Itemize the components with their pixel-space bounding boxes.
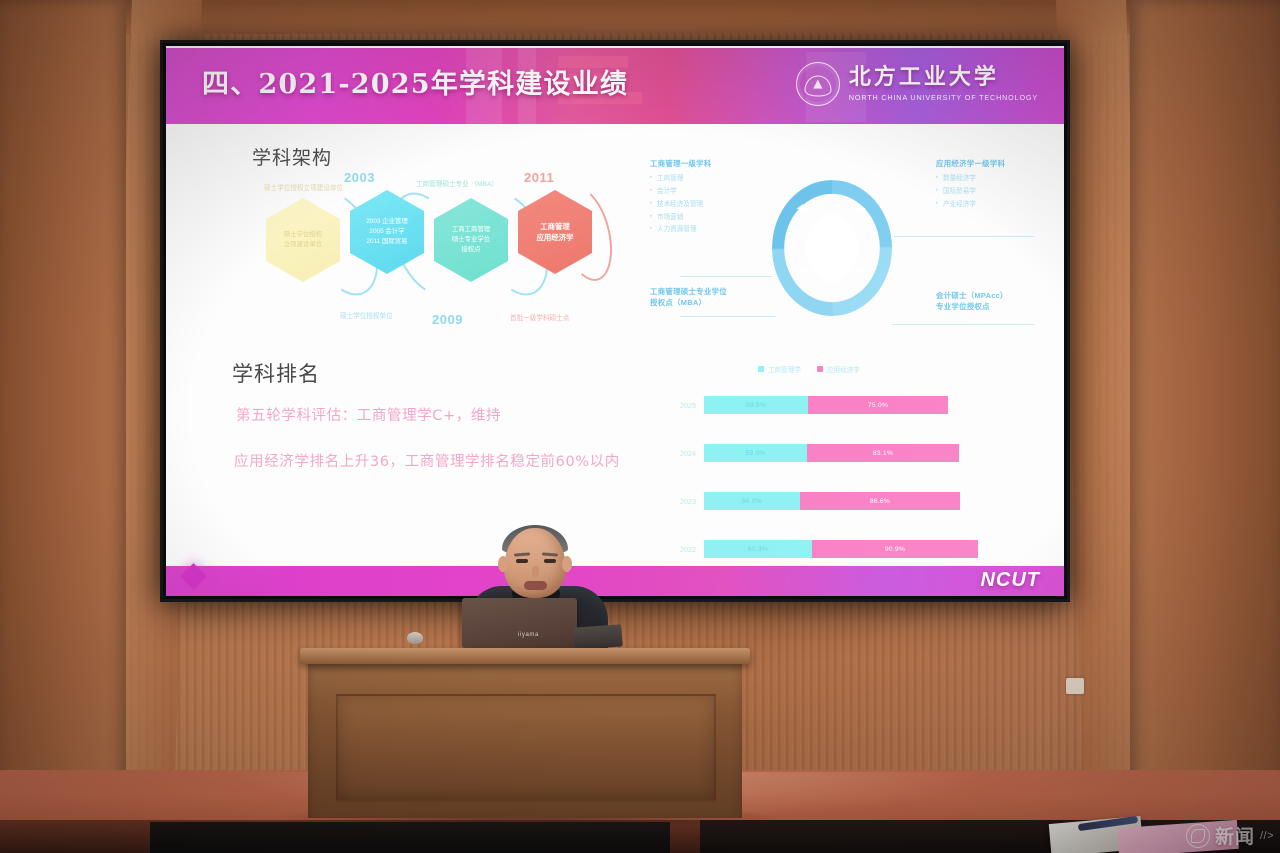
discipline-left-item-1: 工商管理 <box>650 173 712 186</box>
timeline-caption-fourth: 首批一级学科硕士点 <box>510 312 569 322</box>
timeline-caption-first: 硕士学位授权立项建设单位 <box>264 182 343 192</box>
bar-segment-b: 90.9% <box>812 540 978 558</box>
legend-label-1: 应用经济学 <box>827 364 860 374</box>
news-watermark: 新闻 //> <box>1186 822 1274 849</box>
discipline-group-bottom-right: 会计硕士（MPAcc） 专业学位授权点 <box>936 290 1008 316</box>
bar-segment-a: 60.3% <box>704 540 812 558</box>
presenter-eye-left <box>516 559 528 563</box>
podium-desktop <box>300 648 750 664</box>
discipline-left-item-5: 人力资源管理 <box>650 224 712 237</box>
bar-track: 59.0% 83.1% <box>704 444 959 462</box>
connector-right <box>894 236 1034 237</box>
discipline-group-bottom-left: 工商管理硕士专业学位 授权点（MBA） <box>650 286 727 312</box>
bar-track: 56.0% 86.6% <box>704 492 960 510</box>
bar-segment-b: 83.1% <box>807 444 959 462</box>
donut-center-hole <box>806 214 858 282</box>
discipline-group-right: 应用经济学一级学科 数量经济学 国际贸易学 产业经济学 <box>936 158 1005 212</box>
watermark-seal-icon <box>1186 824 1210 848</box>
bar-segment-b: 75.0% <box>808 396 948 414</box>
wall-right-panel <box>1130 0 1280 800</box>
graduation-cap-icon-1 <box>796 204 810 214</box>
legend-swatch-1 <box>817 366 823 372</box>
discipline-donut-diagram: 工商管理一级学科 工商管理 会计学 技术经济及管理 市场营销 人力资源管理 应用… <box>644 158 1044 348</box>
bar-segment-a: 56.0% <box>704 492 800 510</box>
timeline-caption-second: 硕士学位授权单位 <box>340 310 393 320</box>
discipline-right-title: 应用经济学一级学科 <box>936 158 1005 169</box>
footer-brand: NCUT <box>980 569 1040 592</box>
bar-track: 59.5% 75.0% <box>704 396 948 414</box>
slide-title: 四、2021-2025年学科建设业绩 <box>202 62 628 101</box>
legend-swatch-0 <box>758 366 764 372</box>
connector-bottom-left <box>680 316 776 317</box>
legend-label-0: 工商管理学 <box>768 364 801 374</box>
podium <box>300 648 750 818</box>
timeline-caption-third: 工商管理硕士专业 （MBA） <box>416 178 498 188</box>
presenter-eye-right <box>544 559 556 563</box>
timeline-year-2009: 2009 <box>432 312 463 327</box>
presentation-slide: 四、2021-2025年学科建设业绩 北方工业大学 NORTH CHINA UN… <box>166 46 1064 596</box>
discipline-left-item-2: 会计学 <box>650 186 712 199</box>
timeline-node-2-label: 2003 企业管理 2005 会计学 2011 国际贸易 <box>366 217 408 247</box>
connector-left <box>680 276 772 277</box>
legend-item-1: 应用经济学 <box>817 364 860 374</box>
presenter-nose <box>532 566 539 577</box>
watermark-text: 新闻 <box>1215 822 1255 849</box>
mouse[interactable] <box>407 632 423 644</box>
university-seal-icon <box>796 62 840 106</box>
legend-item-0: 工商管理学 <box>758 364 801 374</box>
logo-text-group: 北方工业大学 NORTH CHINA UNIVERSITY OF TECHNOL… <box>849 66 1038 101</box>
discipline-right-item-2: 国际贸易学 <box>936 186 1005 199</box>
laptop-lid: iiyama <box>462 598 577 648</box>
watermark-subtext: //> <box>1260 830 1274 842</box>
discipline-bottom-left-title: 工商管理硕士专业学位 授权点（MBA） <box>650 286 727 308</box>
ranking-bar-chart: 工商管理学 应用经济学 2025 59.5% 75.0% 2024 <box>666 364 1064 572</box>
connector-bottom-right <box>892 324 1034 325</box>
bar-row: 2023 56.0% 86.6% <box>666 490 1064 512</box>
presenter-mouth <box>524 581 547 590</box>
logo-name-en: NORTH CHINA UNIVERSITY OF TECHNOLOGY <box>849 93 1038 102</box>
discipline-left-item-4: 市场营销 <box>650 212 712 225</box>
podium-panel <box>336 694 716 802</box>
discipline-timeline: 硕士学位授权 立项建设单位 2003 企业管理 2005 会计学 2011 国际… <box>266 176 616 341</box>
laptop-brand-label: iiyama <box>518 632 539 638</box>
discipline-group-left: 工商管理一级学科 工商管理 会计学 技术经济及管理 市场营销 人力资源管理 <box>650 158 712 237</box>
bar-segment-a: 59.5% <box>704 396 808 414</box>
discipline-right-item-1: 数量经济学 <box>936 173 1005 186</box>
slide-header: 四、2021-2025年学科建设业绩 北方工业大学 NORTH CHINA UN… <box>166 48 1064 124</box>
discipline-bottom-right-title: 会计硕士（MPAcc） 专业学位授权点 <box>936 290 1008 312</box>
bar-row: 2024 59.0% 83.1% <box>666 442 1064 464</box>
graduation-cap-icon-3 <box>796 266 810 276</box>
tablet-device[interactable] <box>573 624 622 649</box>
wall-outlet <box>1066 678 1084 694</box>
projection-screen: 四、2021-2025年学科建设业绩 北方工业大学 NORTH CHINA UN… <box>160 40 1070 602</box>
graduation-cap-icon-2 <box>852 204 866 214</box>
lecture-hall-scene: 四、2021-2025年学科建设业绩 北方工业大学 NORTH CHINA UN… <box>0 0 1280 853</box>
discipline-left-item-3: 技术经济及管理 <box>650 199 712 212</box>
bar-segment-a: 59.0% <box>704 444 807 462</box>
bar-track: 60.3% 90.9% <box>704 540 978 558</box>
discipline-right-item-3: 产业经济学 <box>936 199 1005 212</box>
bar-category-label: 2022 <box>666 545 704 554</box>
heading-ranking: 学科排名 <box>232 358 320 388</box>
timeline-node-4-label: 工商管理 应用经济学 <box>537 221 574 244</box>
timeline-node-3-label: 工商工商管理 硕士专业学位 授权点 <box>452 225 490 255</box>
bar-row: 2022 60.3% 90.9% <box>666 538 1064 560</box>
timeline-node-1-label: 硕士学位授权 立项建设单位 <box>284 230 322 250</box>
timeline-year-2003: 2003 <box>344 170 375 185</box>
bar-row: 2025 59.5% 75.0% <box>666 394 1064 416</box>
university-logo: 北方工业大学 NORTH CHINA UNIVERSITY OF TECHNOL… <box>796 62 1038 106</box>
bar-segment-b: 86.6% <box>800 492 960 510</box>
presenter-ear-right <box>562 556 572 572</box>
graduation-cap-icon-4 <box>852 266 866 276</box>
ranking-text-line-2: 应用经济学排名上升36，工商管理学排名稳定前60%以内 <box>234 450 620 471</box>
wall-left-panel <box>0 0 126 800</box>
bar-category-label: 2025 <box>666 401 704 410</box>
bar-category-label: 2024 <box>666 449 704 458</box>
front-bench-left <box>150 822 670 853</box>
bar-category-label: 2023 <box>666 497 704 506</box>
heading-architecture: 学科架构 <box>252 143 332 170</box>
ranking-text-line-1: 第五轮学科评估：工商管理学C+，维持 <box>236 404 501 425</box>
timeline-year-2011: 2011 <box>524 170 554 185</box>
chart-legend: 工商管理学 应用经济学 <box>758 364 860 374</box>
logo-name-cn: 北方工业大学 <box>849 66 1038 89</box>
discipline-left-title: 工商管理一级学科 <box>650 158 712 169</box>
presenter-ear-left <box>498 556 508 572</box>
podium-front <box>308 664 742 818</box>
